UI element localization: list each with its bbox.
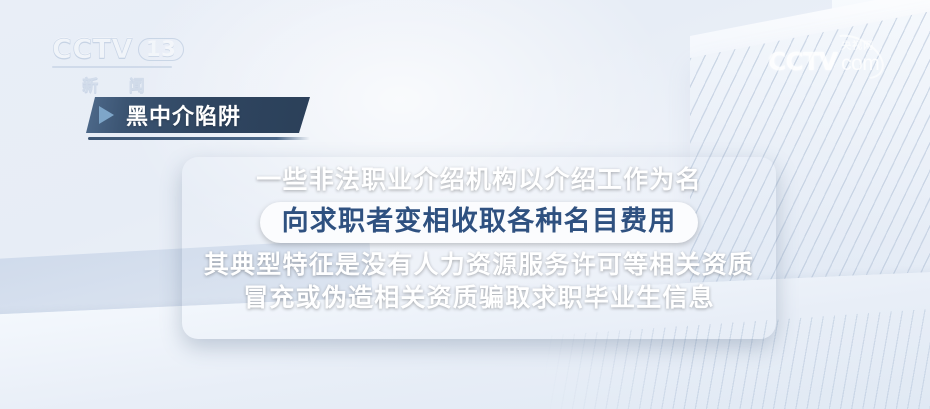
- watermark-cn-label: 央视网: [841, 42, 874, 52]
- cctv-com-watermark: CCTV 央视网 com: [768, 42, 908, 88]
- watermark-right-group: 央视网 com: [841, 42, 879, 74]
- section-banner: 黑中介陷阱: [86, 97, 310, 140]
- section-banner-bar: 黑中介陷阱: [86, 97, 310, 133]
- lower-third-text-panel: 一些非法职业介绍机构以介绍工作为名 向求职者变相收取各种名目费用 其典型特征是没…: [182, 157, 776, 339]
- broadcast-screenshot: CCTV 13 新 闻 CCTV 央视网 com 黑中介陷阱 一些非法职业介绍机…: [0, 0, 930, 409]
- background-slab-upper-right: [832, 0, 930, 250]
- panel-line-3: 其典型特征是没有人力资源服务许可等相关资质: [204, 253, 754, 278]
- lower-third-content: 一些非法职业介绍机构以介绍工作为名 向求职者变相收取各种名目费用 其典型特征是没…: [182, 157, 776, 339]
- cctv13-channel-logo: CCTV 13 新 闻: [52, 36, 178, 94]
- channel-logo-subtitle: 新 闻: [52, 72, 178, 96]
- panel-line-4: 冒充或伪造相关资质骗取求职毕业生信息: [243, 286, 715, 311]
- channel-logo-number: 13: [138, 38, 184, 61]
- watermark-domain: com: [841, 53, 879, 74]
- watermark-brand: CCTV: [768, 49, 837, 74]
- panel-highlight-pill: 向求职者变相收取各种名目费用: [260, 202, 699, 243]
- background-panel-top-edge: [690, 0, 930, 82]
- play-triangle-icon: [99, 106, 114, 124]
- channel-logo-wordmark: CCTV 13: [52, 36, 178, 63]
- watermark-row: CCTV 央视网 com: [768, 42, 908, 74]
- section-banner-underline: [88, 137, 310, 140]
- panel-line-1: 一些非法职业介绍机构以介绍工作为名: [256, 168, 701, 193]
- channel-logo-underline: [52, 66, 172, 68]
- section-banner-title: 黑中介陷阱: [126, 99, 241, 131]
- panel-highlight-text: 向求职者变相收取各种名目费用: [282, 208, 677, 235]
- watermark-swoosh-icon: [819, 26, 892, 89]
- channel-logo-name: CCTV: [52, 36, 133, 63]
